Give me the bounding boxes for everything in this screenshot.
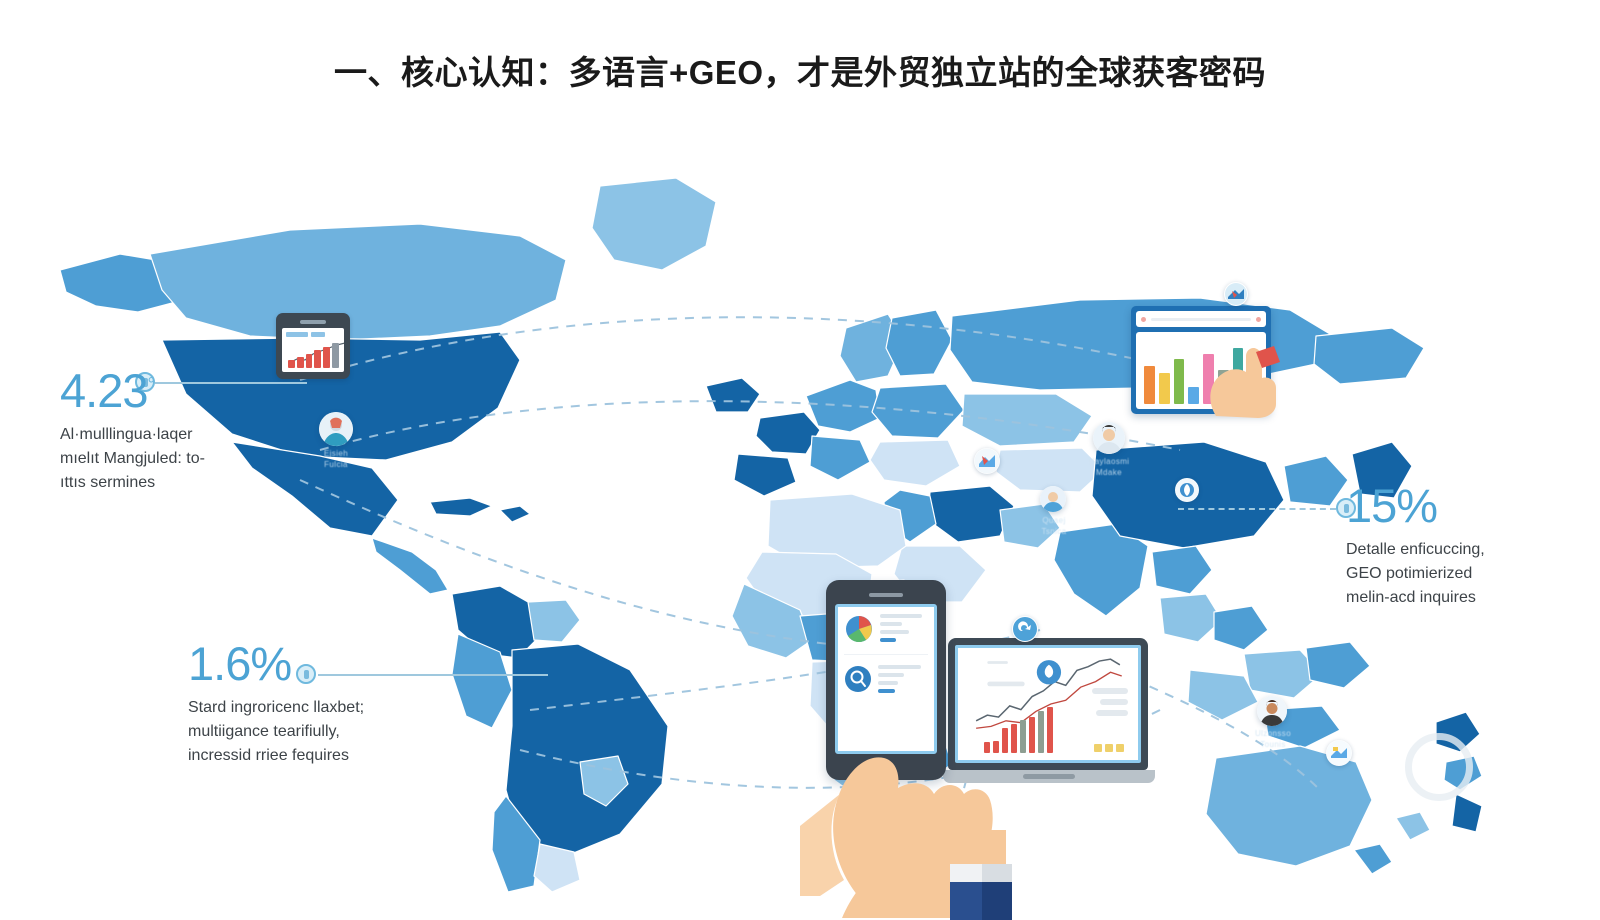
laptop-legend-dots xyxy=(1094,744,1124,752)
tablet-growth-chart[interactable] xyxy=(276,313,350,379)
arm-with-suit-sleeve xyxy=(842,800,1022,920)
infographic-canvas: 一、核心认知：多语言+GEO，才是外贸独立站的全球获客密码 .deep{fill… xyxy=(0,0,1600,896)
leader-line-stat-3 xyxy=(1178,508,1336,510)
pin-north-america[interactable] xyxy=(319,412,353,446)
browser-url-placeholder xyxy=(1151,318,1251,321)
phone-pie-card xyxy=(838,607,934,651)
browser-address-bar[interactable] xyxy=(1136,311,1266,327)
stat-value-2: 1.6% xyxy=(188,640,364,687)
tablet-screen xyxy=(282,328,344,372)
stat-desc-2: Stard ingroricenc llaxbet; multiigance t… xyxy=(188,696,364,768)
pin-southeast-asia[interactable] xyxy=(1040,486,1066,512)
decorative-ring xyxy=(1405,733,1473,801)
tablet-speaker xyxy=(300,320,326,324)
stat-value-3: 15% xyxy=(1346,482,1485,529)
map-badge-southeast-asia[interactable] xyxy=(1012,616,1038,642)
page-title: 一、核心认知：多语言+GEO，才是外贸独立站的全球获客密码 xyxy=(0,46,1600,94)
browser-favicon xyxy=(1141,317,1146,322)
stat-desc-3: Detalle enficuccing, GEO potimierized me… xyxy=(1346,538,1485,610)
phone-card-skeleton xyxy=(880,614,928,642)
stat-value-1: 4.23° xyxy=(60,367,205,414)
laptop-side-skeleton xyxy=(1092,688,1128,716)
map-badge-oceania[interactable] xyxy=(1326,740,1352,766)
pin-label-south-asia: Uaylaosmi Mdake xyxy=(1072,457,1146,479)
pin-label-north-america: Ejsieh Fulcia xyxy=(300,449,372,471)
pin-label-southeast-asia: Quaej Tsnica xyxy=(1022,516,1086,538)
pie-chart-icon xyxy=(844,614,874,644)
pin-south-asia[interactable] xyxy=(1093,422,1125,454)
stat-left-top: 4.23° Al·mulllingua·laqer mıelıt Mangjul… xyxy=(60,367,205,495)
map-badge-east-asia[interactable] xyxy=(1224,282,1248,306)
stat-right: 15% Detalle enficuccing, GEO potimierize… xyxy=(1346,482,1485,610)
phone-speaker xyxy=(869,593,903,597)
pointing-hand-icon xyxy=(1196,338,1282,420)
device-cluster xyxy=(800,580,1200,896)
pin-australia[interactable] xyxy=(1257,696,1287,726)
tablet-header-skeleton xyxy=(282,328,344,337)
pin-middle-east[interactable] xyxy=(974,448,1000,474)
tablet-bars xyxy=(288,342,339,368)
pin-label-australia: Ulzonsso Tounis xyxy=(1238,729,1308,751)
stat-desc-1: Al·mulllingua·laqer mıelıt Mangjuled: to… xyxy=(60,423,205,495)
phone-divider xyxy=(844,654,928,655)
pin-east-asia[interactable] xyxy=(1175,478,1199,502)
stat-left-bottom: 1.6% Stard ingroricenc llaxbet; multiiga… xyxy=(188,640,364,768)
browser-action-icon[interactable] xyxy=(1256,317,1261,322)
